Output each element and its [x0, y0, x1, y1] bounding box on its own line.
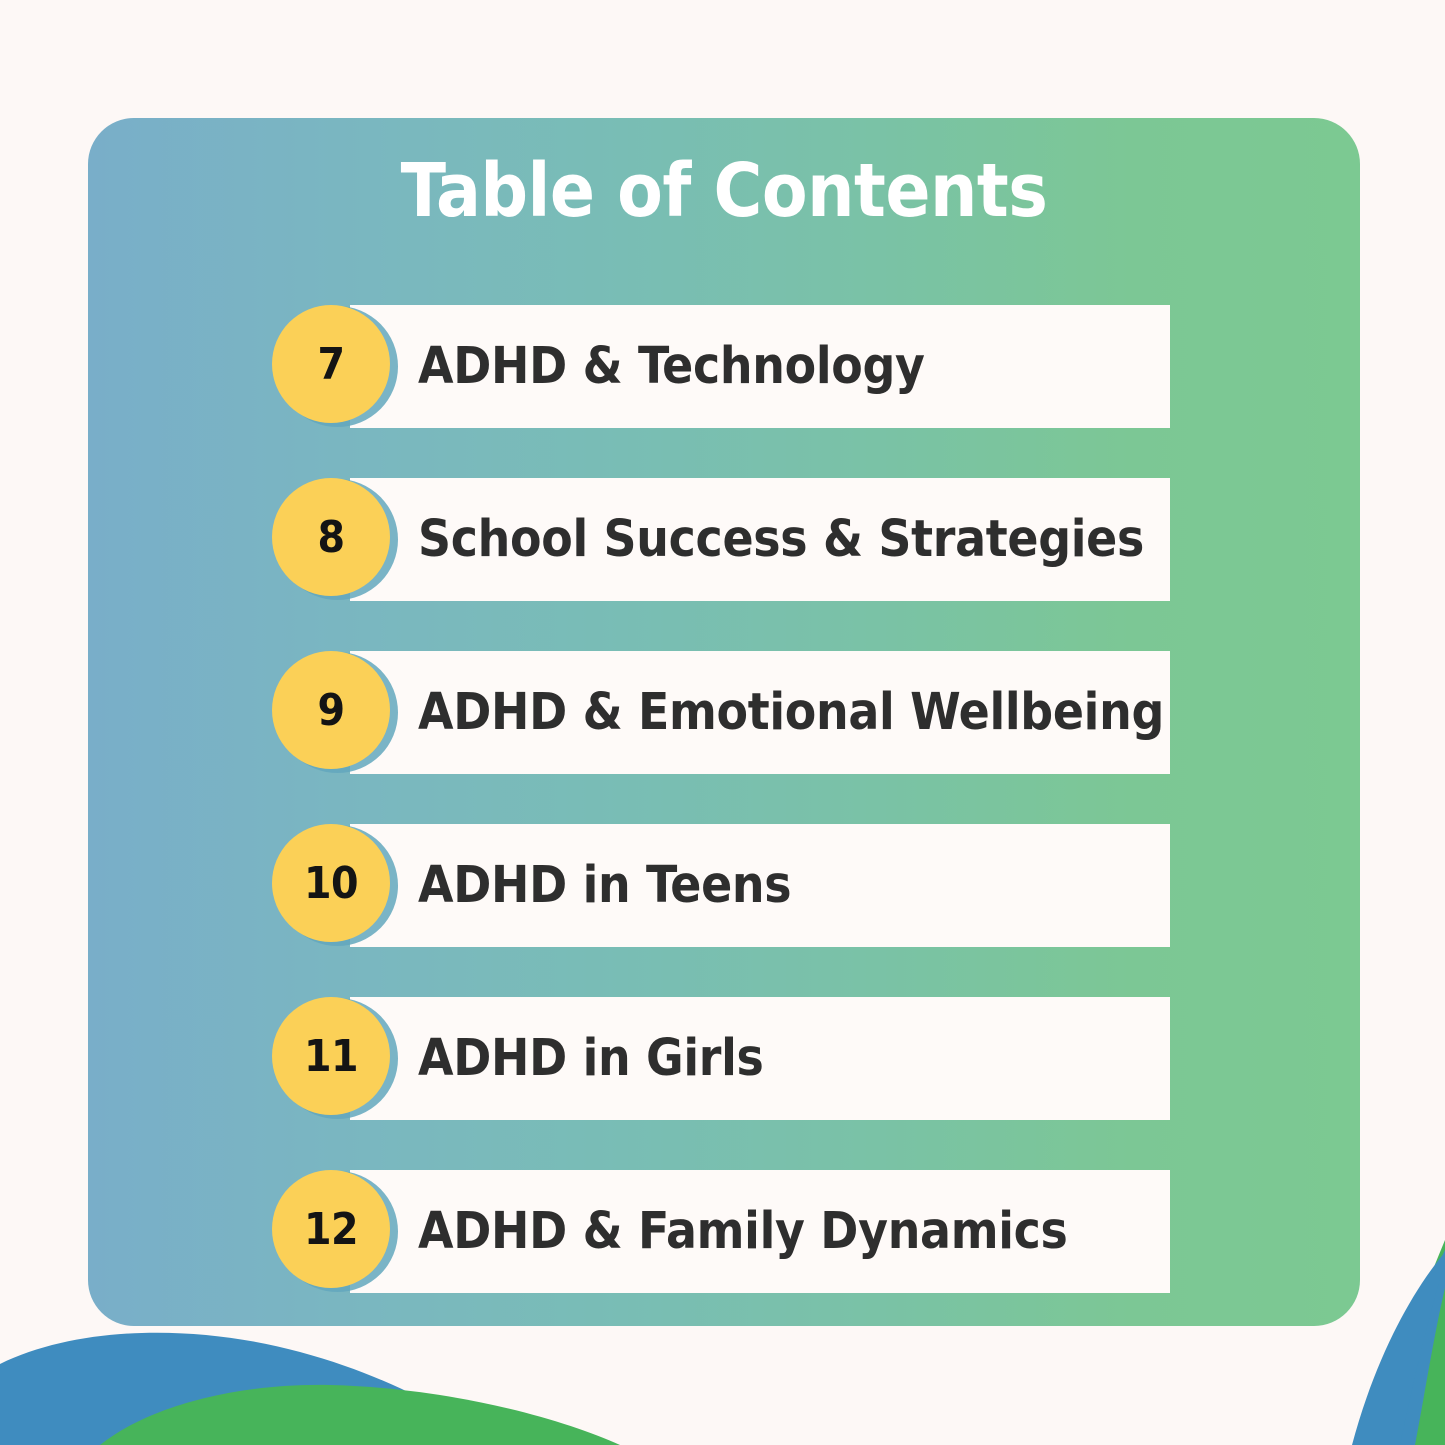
list-item[interactable]: 11 ADHD in Girls	[88, 997, 1360, 1120]
toc-number-badge: 10	[272, 824, 390, 942]
list-item[interactable]: 9 ADHD & Emotional Wellbeing	[88, 651, 1360, 774]
list-item[interactable]: 10 ADHD in Teens	[88, 824, 1360, 947]
toc-entry-label[interactable]: School Success & Strategies	[418, 478, 1144, 601]
toc-number-badge: 8	[272, 478, 390, 596]
toc-entry-label[interactable]: ADHD & Family Dynamics	[418, 1170, 1068, 1293]
toc-entry-label[interactable]: ADHD & Emotional Wellbeing	[418, 651, 1164, 774]
toc-entry-label[interactable]: ADHD & Technology	[418, 305, 925, 428]
toc-number-badge: 7	[272, 305, 390, 423]
right-edge-blue-arc	[1362, 1250, 1445, 1445]
toc-entry-list: 7 ADHD & Technology 8 School Success & S…	[88, 305, 1360, 1293]
list-item[interactable]: 8 School Success & Strategies	[88, 478, 1360, 601]
table-of-contents-card: Table of Contents 7 ADHD & Technology 8 …	[88, 118, 1360, 1326]
right-edge-blue-arc-tail	[1352, 1252, 1445, 1445]
right-edge-green-arc	[1360, 1240, 1445, 1445]
list-item[interactable]: 7 ADHD & Technology	[88, 305, 1360, 428]
bottom-left-blue-blob	[0, 1333, 500, 1445]
toc-entry-label[interactable]: ADHD in Teens	[418, 824, 791, 947]
toc-entry-label[interactable]: ADHD in Girls	[418, 997, 764, 1120]
bottom-left-green-blob	[100, 1385, 620, 1445]
toc-number-badge: 11	[272, 997, 390, 1115]
page-title: Table of Contents	[88, 148, 1360, 235]
toc-number-badge: 12	[272, 1170, 390, 1288]
toc-number-badge: 9	[272, 651, 390, 769]
list-item[interactable]: 12 ADHD & Family Dynamics	[88, 1170, 1360, 1293]
